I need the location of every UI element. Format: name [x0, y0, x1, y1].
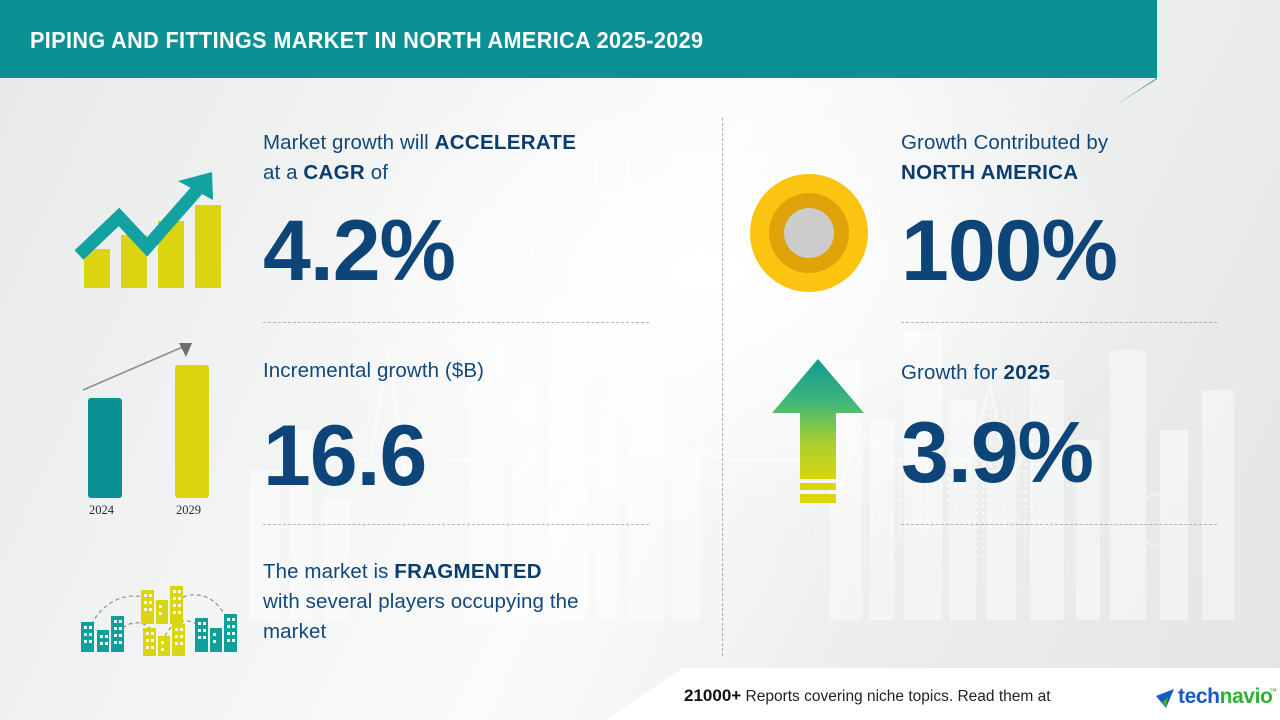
cagr-lead-text: Market growth will ACCELERATE at a CAGR … — [263, 128, 663, 188]
fragmented-text: The market is FRAGMENTED with several pl… — [263, 557, 683, 647]
page-title: PIPING AND FITTINGS MARKET IN NORTH AMER… — [30, 27, 703, 54]
divider-right-2 — [901, 524, 1217, 525]
logo-tech-part: tech — [1178, 685, 1220, 708]
report-count: 21000+ — [684, 686, 741, 705]
cagr-lead-line2-tail: of — [365, 161, 388, 184]
footer-white-band — [0, 668, 1280, 720]
cagr-lead-line2-bold: CAGR — [303, 161, 365, 184]
divider-left-2 — [263, 524, 649, 525]
footer-tagline: Reports covering niche topics. Read them… — [746, 688, 1051, 705]
bar-label-2024: 2024 — [89, 503, 114, 518]
fragmented-line3: market — [263, 620, 326, 643]
incremental-growth-label: Incremental growth ($B) — [263, 356, 663, 386]
na-line2-bold: NORTH AMERICA — [901, 161, 1078, 184]
two-bar-chart-icon: 2024 2029 — [80, 333, 220, 523]
footer-bar — [0, 668, 1280, 720]
trademark-symbol: ™ — [1269, 687, 1277, 696]
cagr-lead-line2-normal: at a — [263, 161, 303, 184]
logo-navio-part: navio — [1220, 685, 1273, 708]
fragmented-line2: with several players occupying the — [263, 590, 579, 613]
cagr-value: 4.2% — [263, 208, 455, 294]
fragmented-line1-bold: FRAGMENTED — [394, 560, 542, 583]
growth-2025-value: 3.9% — [901, 410, 1093, 496]
cagr-lead-line1-normal: Market growth will — [263, 131, 435, 154]
technavio-logo-icon[interactable] — [1155, 688, 1177, 710]
cagr-lead-line1-bold: ACCELERATE — [435, 131, 577, 154]
city-cluster-icon — [75, 560, 240, 660]
growth2025-line1: Growth for — [901, 361, 1004, 384]
fragmented-line1-normal: The market is — [263, 560, 394, 583]
north-america-value: 100% — [901, 208, 1117, 294]
bar-label-2029: 2029 — [176, 503, 201, 518]
technavio-logo-text[interactable]: technavio — [1178, 685, 1272, 709]
growth-chart-icon — [75, 155, 235, 290]
content-area: Market growth will ACCELERATE at a CAGR … — [0, 0, 1280, 720]
growth2025-year: 2025 — [1004, 361, 1051, 384]
header-bar: PIPING AND FITTINGS MARKET IN NORTH AMER… — [0, 0, 1157, 78]
na-line1: Growth Contributed by — [901, 131, 1108, 154]
donut-circle-icon — [748, 172, 870, 294]
incremental-growth-text: Incremental growth ($B) — [263, 359, 484, 382]
divider-right-1 — [901, 322, 1217, 323]
north-america-lead-text: Growth Contributed by NORTH AMERICA — [901, 128, 1241, 188]
growth-2025-lead-text: Growth for 2025 — [901, 358, 1241, 388]
divider-left-1 — [263, 322, 649, 323]
header-fold-corner — [1114, 78, 1158, 106]
column-divider — [722, 118, 723, 656]
up-arrow-icon — [768, 355, 868, 505]
footer-text: 21000+ Reports covering niche topics. Re… — [684, 686, 1051, 706]
incremental-growth-value: 16.6 — [263, 413, 426, 499]
